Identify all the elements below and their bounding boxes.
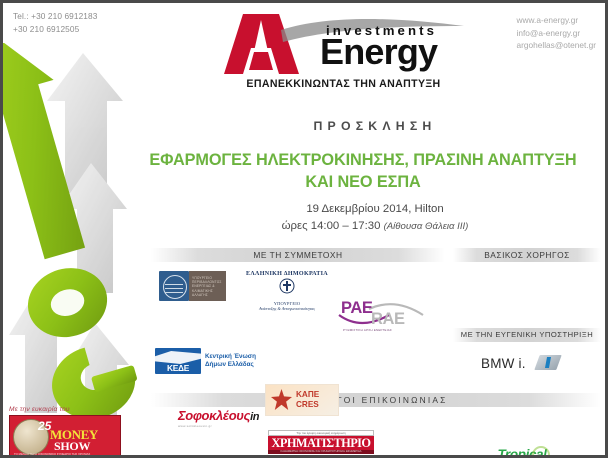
logo-mark: investments Energy [221,12,466,74]
bmw-i-logo: BMW i. [481,352,567,376]
sofokleous-text: Σοφοκλέους [178,408,250,423]
event-title: ΕΦΑΡΜΟΓΕΣ ΗΛΕΚΤΡΟΚΙΝΗΣΗΣ, ΠΡΑΣΙΝΗ ΑΝΑΠΤΥ… [128,149,598,193]
kape-english: CRES [296,400,319,410]
event-time-row: ώρες 14:00 – 17:30 (Αίθουσα Θάλεια III) [153,218,597,235]
sofokleous-in-text: in [250,411,259,423]
kape-cres-logo: ΚΑΠΕ CRES [265,384,339,416]
section-bar-participation: ΜΕ ΤΗ ΣΥΜΜΕΤΟΧΗ [151,248,445,262]
green-go-arrow-graphic [3,43,153,443]
tropical-name: Tropical [480,447,564,458]
bmw-i-text: BMW i. [481,356,526,371]
xrimatistirio-logo: Την πιο έγκυρη οικονομική ενημέρωση ΧΡΗΜ… [268,430,374,454]
section-bar-media-sponsors: ΧΟΡΗΓΟΙ ΕΠΙΚΟΙΝΩΝΙΑΣ [151,393,601,407]
tropical-logo: Tropical GREEN TECHNOLOGIES www.tropical… [480,447,564,458]
email-alt-link[interactable]: argohellas@otenet.gr [517,39,596,52]
sofokleousin-name: Σοφοκλέουςin [178,408,259,423]
kape-text: ΚΑΠΕ CRES [296,390,319,410]
logo-tagline: ΕΠΑΝΕΚΚΙΝΩΝΤΑΣ ΤΗΝ ΑΝΑΠΤΥΞΗ [221,78,466,90]
ministry-environment-name: ΥΠΟΥΡΓΕΙΟ ΠΕΡΙΒΑΛΛΟΝΤΟΣ ΕΝΕΡΓΕΙΑΣ & ΚΛΙΜ… [189,271,226,301]
occasion-caption: Με την ευκαιρία του [9,406,127,413]
email-link[interactable]: info@a-energy.gr [517,27,596,40]
website-link[interactable]: www.a-energy.gr [517,14,596,27]
rae-subtitle: ΡΥΘΜΙΣΤΙΚΗ ΑΡΧΗ ΕΝΕΡΓΕΙΑΣ [343,328,392,332]
ministry-emblem-icon [159,271,189,301]
kape-sun-icon [271,389,292,410]
phone-primary: Tel.: +30 210 6912183 [13,10,97,23]
xrimatistirio-sub: ΚΑΘΗΜΕΡΙΝΗ ΟΙΚΟΝΟΜΙΚΗ ΚΑΙ ΧΡΗΜΑΤΙΣΤΗΡΙΑΚ… [268,450,374,454]
sofokleousin-url: www.sofokleousin.gr [178,424,259,428]
kede-name-line2: Δήμων Ελλάδας [205,361,256,369]
section-bar-main-sponsor: ΒΑΣΙΚΟΣ ΧΟΡΗΓΟΣ [453,248,601,262]
kede-name-line1: Κεντρική Ένωση [205,353,256,361]
a-energy-logo: investments Energy ΕΠΑΝΕΚΚΙΝΩΝΤΑΣ ΤΗΝ ΑΝ… [221,12,466,100]
rae-logo: PAE RAE ΡΥΘΜΙΣΤΙΚΗ ΑΡΧΗ ΕΝΕΡΓΕΙΑΣ [335,295,430,335]
ministry-sub: Ανάπτυξης & Ανταγωνιστικότητας [231,306,343,311]
money-show-footer: ΤΟ ΜΕΓΑΛΥΤΕΡΟ ΟΙΚΟΝΟΜΙΚΟ ΣΥΝΕΔΡΙΟ ΤΗΣ ΧΡ… [14,452,90,456]
event-time: ώρες 14:00 – 17:30 [282,220,381,232]
invitation-flyer: Tel.: +30 210 6912183 +30 210 6912505 ww… [0,0,608,458]
bmw-i-badge-icon [534,355,561,370]
kape-greek: ΚΑΠΕ [296,390,319,400]
kede-mark-text: ΚΕΔΕ [155,363,201,373]
hellenic-republic-title: ΕΛΛΗΝΙΚΗ ΔΗΜΟΚΡΑΤΙΑ [231,271,343,277]
phone-contact: Tel.: +30 210 6912183 +30 210 6912505 [13,10,97,35]
money-show-show-text: SHOW [54,440,90,452]
phone-secondary: +30 210 6912505 [13,23,97,36]
invitation-kicker: ΠΡΟΣΚΛΗΣΗ [153,119,597,133]
kede-logo: ΚΕΔΕ Κεντρική Ένωση Δήμων Ελλάδας [155,348,256,374]
event-hall: (Αίθουσα Θάλεια III) [384,221,469,232]
rae-rae-text: RAE [371,310,405,329]
event-date: 19 Δεκεμβρίου 2014, Hilton [153,201,597,218]
event-title-line2: ΚΑΙ ΝΕΟ ΕΣΠΑ [128,171,598,193]
sofokleousin-logo: Σοφοκλέουςin www.sofokleousin.gr [178,408,259,428]
web-contact: www.a-energy.gr info@a-energy.gr argohel… [517,14,596,52]
logo-energy-text: Energy [320,32,437,72]
money-show-block: Με την ευκαιρία του 25 MONEY SHOW ΤΟ ΜΕΓ… [9,406,127,458]
event-datetime: 19 Δεκεμβρίου 2014, Hilton ώρες 14:00 – … [153,201,597,235]
ministry-environment-logo: ΥΠΟΥΡΓΕΙΟ ΠΕΡΙΒΑΛΛΟΝΤΟΣ ΕΝΕΡΓΕΙΑΣ & ΚΛΙΜ… [159,271,226,301]
tropical-ring-icon [532,446,550,458]
kede-mark-icon: ΚΕΔΕ [155,348,201,374]
kede-name: Κεντρική Ένωση Δήμων Ελλάδας [205,353,256,368]
event-title-line1: ΕΦΑΡΜΟΓΕΣ ΗΛΕΚΤΡΟΚΙΝΗΣΗΣ, ΠΡΑΣΙΝΗ ΑΝΑΠΤΥ… [128,149,598,171]
money-show-badge: 25 MONEY SHOW ΤΟ ΜΕΓΑΛΥΤΕΡΟ ΟΙΚΟΝΟΜΙΚΟ Σ… [9,415,121,458]
greek-coat-of-arms-icon [279,278,295,294]
rae-pae-text: PAE [341,299,373,318]
xrimatistirio-name: ΧΡΗΜΑΤΙΣΤΗΡΙΟ [268,436,374,450]
hellenic-republic-logo: ΕΛΛΗΝΙΚΗ ΔΗΜΟΚΡΑΤΙΑ ΥΠΟΥΡΓΕΙΟ Ανάπτυξης … [231,271,343,311]
section-bar-kind-support: ΜΕ ΤΗΝ ΕΥΓΕΝΙΚΗ ΥΠΟΣΤΗΡΙΞΗ [453,328,601,342]
